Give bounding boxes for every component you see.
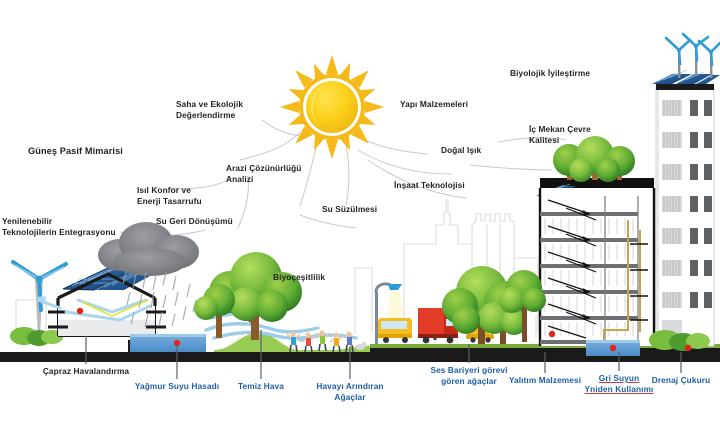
callout-temiz-hava: Temiz Hava — [221, 381, 301, 392]
callout-arazi-cozunurlugu-analizi: Arazi Çözünürlüğü Analizi — [226, 163, 336, 185]
callout-ic-mekan-cevre-kalitesi: İç Mekan Çevre Kalitesi — [529, 124, 629, 146]
callout-saha-ve-ekolojik-degerlendirme: Saha ve Ekolojik Değerlendirme — [176, 99, 286, 121]
callout-isil-konfor: Isıl Konfor ve Enerji Tasarrufu — [137, 185, 237, 207]
callout-biyolojik-iyilestirme: Biyolojik İyileştirme — [510, 68, 625, 79]
callout-biyocesitlilik: Biyoçeşitlilik — [273, 272, 353, 283]
callout-su-suzulmesi: Su Süzülmesi — [322, 204, 412, 215]
callout-havayi-arindiran-agaclar: Havayı Arındıran Ağaçlar — [300, 381, 400, 403]
callout-yenilenebilir-teknolojiler: Yenilenebilir Teknolojilerin Entegrasyon… — [2, 216, 132, 238]
label-layer: Güneş Pasif MimarisiYenilenebilir Teknol… — [0, 0, 720, 427]
callout-capraz-havalandirma: Çapraz Havalandırma — [27, 366, 145, 377]
callout-gunes-pasif-mimarisi: Güneş Pasif Mimarisi — [28, 145, 158, 157]
callout-insaat-teknolojisi: İnşaat Teknolojisi — [394, 180, 494, 191]
infographic-canvas: Güneş Pasif MimarisiYenilenebilir Teknol… — [0, 0, 720, 427]
callout-yagmur-suyu-hasadi: Yağmur Suyu Hasadı — [122, 381, 232, 392]
callout-yapi-malzemeleri: Yapı Malzemeleri — [400, 99, 500, 110]
callout-dogal-isik: Doğal Işık — [441, 145, 511, 156]
callout-su-geri-donusumu: Su Geri Dönüşümü — [156, 216, 266, 227]
callout-drenaj-cukuru: Drenaj Çukuru — [636, 375, 720, 386]
